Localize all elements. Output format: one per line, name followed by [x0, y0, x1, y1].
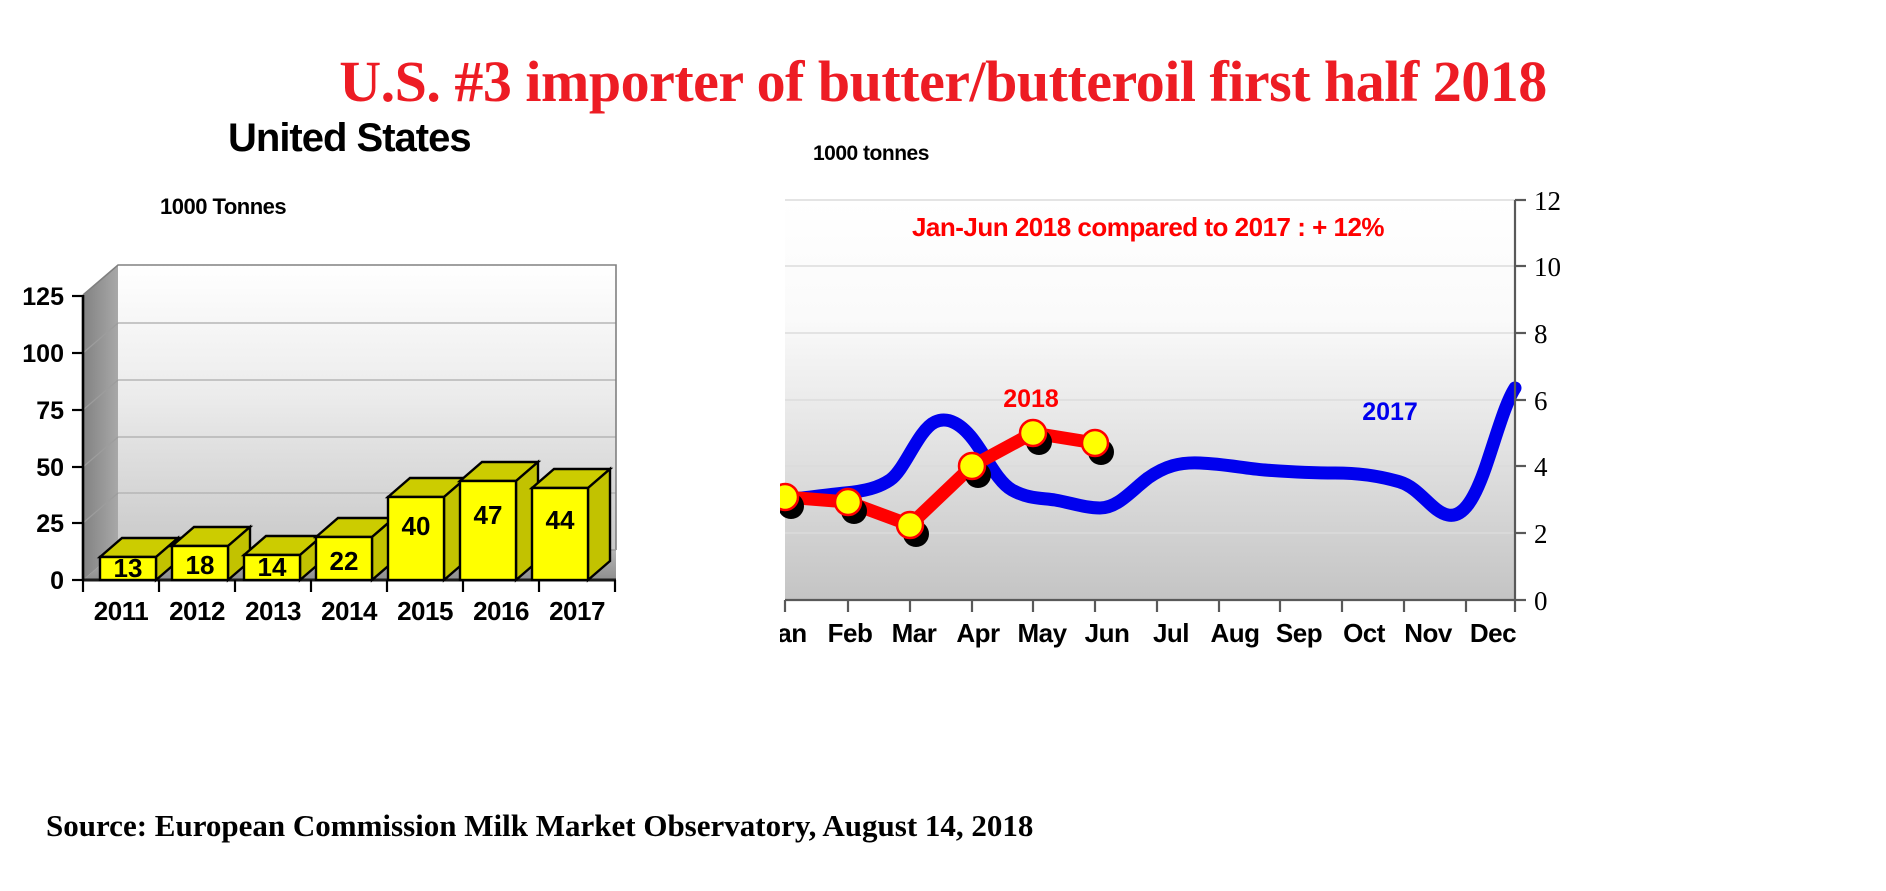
bar-x-axis: 2011 2012 2013 2014 2015 2016 2017 — [83, 580, 615, 626]
bar-item[interactable]: 22 — [316, 518, 394, 580]
bar-item[interactable]: 47 — [460, 462, 538, 580]
bar-ytick-125: 125 — [22, 283, 64, 311]
bar-xtick-2013: 2013 — [245, 596, 301, 626]
bar-value-2013: 14 — [258, 552, 287, 582]
bar-item[interactable]: 44 — [532, 469, 610, 580]
line-ytick-2: 2 — [1534, 519, 1548, 549]
bar-item[interactable]: 40 — [388, 478, 466, 580]
bar-value-2012: 18 — [186, 550, 215, 580]
line-xtick-jul: Jul — [1153, 618, 1189, 648]
bar-xtick-2011: 2011 — [94, 596, 148, 626]
line-chart-panel: 1000 tonnes Jan-Jun 2018 com — [780, 130, 1886, 730]
line-xtick-mar: Mar — [892, 618, 937, 648]
line-xtick-jun: Jun — [1085, 618, 1130, 648]
line-xtick-nov: Nov — [1404, 618, 1453, 648]
series-label-2017: 2017 — [1362, 398, 1418, 426]
line-xtick-jan: Jan — [780, 618, 807, 648]
bar-value-2014: 22 — [330, 546, 359, 576]
line-ytick-10: 10 — [1534, 252, 1561, 282]
page-title: U.S. #3 importer of butter/butteroil fir… — [0, 48, 1886, 115]
bar-ytick-0: 0 — [50, 567, 64, 595]
line-xtick-feb: Feb — [828, 618, 873, 648]
line-ytick-8: 8 — [1534, 319, 1548, 349]
comparison-callout: Jan-Jun 2018 compared to 2017 : + 12% — [912, 212, 1384, 242]
bar-ytick-25: 25 — [36, 510, 64, 538]
line-xtick-oct: Oct — [1343, 618, 1386, 648]
bar-xtick-2012: 2012 — [169, 596, 225, 626]
line-xtick-dec: Dec — [1470, 618, 1516, 648]
series-label-2018: 2018 — [1003, 385, 1059, 413]
bar-xtick-2016: 2016 — [473, 596, 529, 626]
source-note: Source: European Commission Milk Market … — [46, 808, 1033, 844]
bar-value-2015: 40 — [402, 511, 431, 541]
line-chart-svg: Jan-Jun 2018 compared to 2017 : + 12% — [780, 130, 1886, 730]
bar-xtick-2015: 2015 — [397, 596, 453, 626]
bar-value-2017: 44 — [546, 505, 575, 535]
line-xtick-aug: Aug — [1210, 618, 1259, 648]
bar-ytick-100: 100 — [22, 340, 64, 368]
bar-ytick-75: 75 — [36, 397, 64, 425]
line-ytick-6: 6 — [1534, 386, 1548, 416]
line-xtick-sep: Sep — [1276, 618, 1322, 648]
line-ytick-12: 12 — [1534, 186, 1561, 216]
bar-xtick-2017: 2017 — [549, 596, 605, 626]
bar-y-axis: 0 25 50 75 100 125 — [22, 283, 83, 595]
bar-value-2016: 47 — [474, 500, 503, 530]
line-xtick-may: May — [1017, 618, 1067, 648]
country-subtitle: United States — [228, 116, 471, 161]
bar-item[interactable]: 18 — [172, 527, 250, 580]
line-y-axis: 12 10 8 6 4 2 0 — [1515, 186, 1561, 616]
line-xtick-apr: Apr — [956, 618, 1000, 648]
bar-chart-svg: 0 25 50 75 100 125 13 18 — [0, 180, 720, 720]
bar-ytick-50: 50 — [36, 454, 64, 482]
line-ytick-4: 4 — [1534, 452, 1548, 482]
line-x-axis: Jan Feb Mar Apr May Jun Jul Aug Sep Oct … — [780, 600, 1516, 648]
bar-chart-panel: 1000 Tonnes — [0, 180, 720, 720]
line-ytick-0: 0 — [1534, 586, 1548, 616]
bar-value-2011: 13 — [114, 553, 143, 583]
bar-xtick-2014: 2014 — [321, 596, 378, 626]
